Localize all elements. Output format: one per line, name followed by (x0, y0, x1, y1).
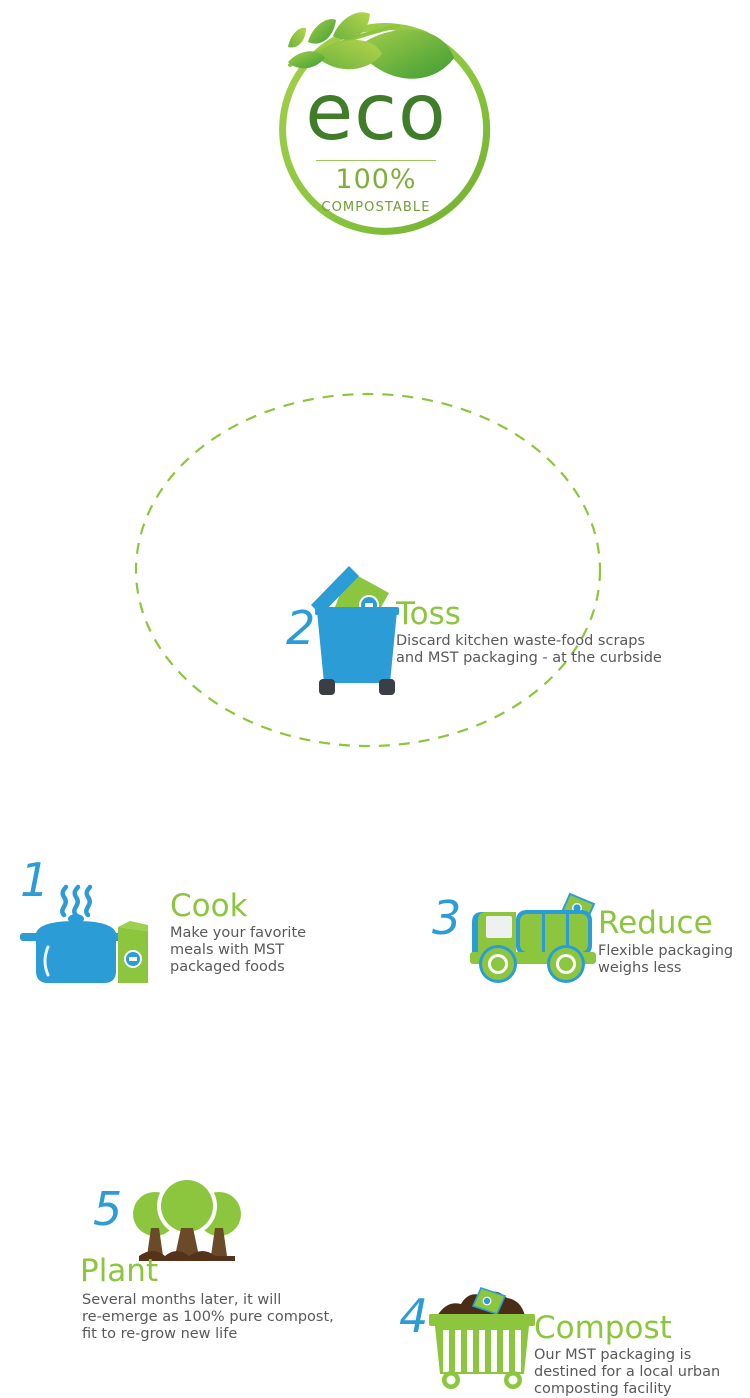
step-number-reduce: 3 (432, 895, 461, 941)
garbage-truck-icon (462, 892, 607, 987)
step-title-plant: Plant (80, 1255, 158, 1288)
step-plant: 5 Plant Several months later, it will re… (0, 580, 400, 779)
badge-word: eco (256, 74, 496, 152)
badge-percent: 100% (256, 165, 496, 195)
step-title-toss: Toss (396, 598, 461, 631)
infographic-canvas: eco 100% COMPOSTABLE 2 Toss Discard kitc… (0, 0, 750, 779)
compost-dumpster-icon (427, 1286, 537, 1391)
step-number-plant: 5 (93, 1186, 122, 1232)
trees-icon (131, 1170, 243, 1262)
eco-compostable-badge: eco 100% COMPOSTABLE (256, 2, 496, 242)
step-desc-plant: Several months later, it will re-emerge … (82, 1292, 334, 1343)
step-cook: 1 Cook Make your favor (0, 425, 340, 575)
step-title-cook: Cook (170, 890, 248, 923)
step-desc-compost: Our MST packaging is destined for a loca… (534, 1347, 720, 1398)
badge-label: COMPOSTABLE (256, 200, 496, 215)
step-desc-reduce: Flexible packaging weighs less (598, 943, 733, 977)
badge-divider (316, 160, 436, 161)
step-title-reduce: Reduce (598, 907, 713, 940)
step-number-compost: 4 (399, 1293, 428, 1339)
step-toss: 2 Toss Discard kitchen waste-food scraps… (0, 280, 750, 430)
step-title-compost: Compost (534, 1312, 672, 1345)
step-desc-cook: Make your favorite meals with MST packag… (170, 925, 306, 976)
cooking-pot-icon (18, 885, 158, 990)
